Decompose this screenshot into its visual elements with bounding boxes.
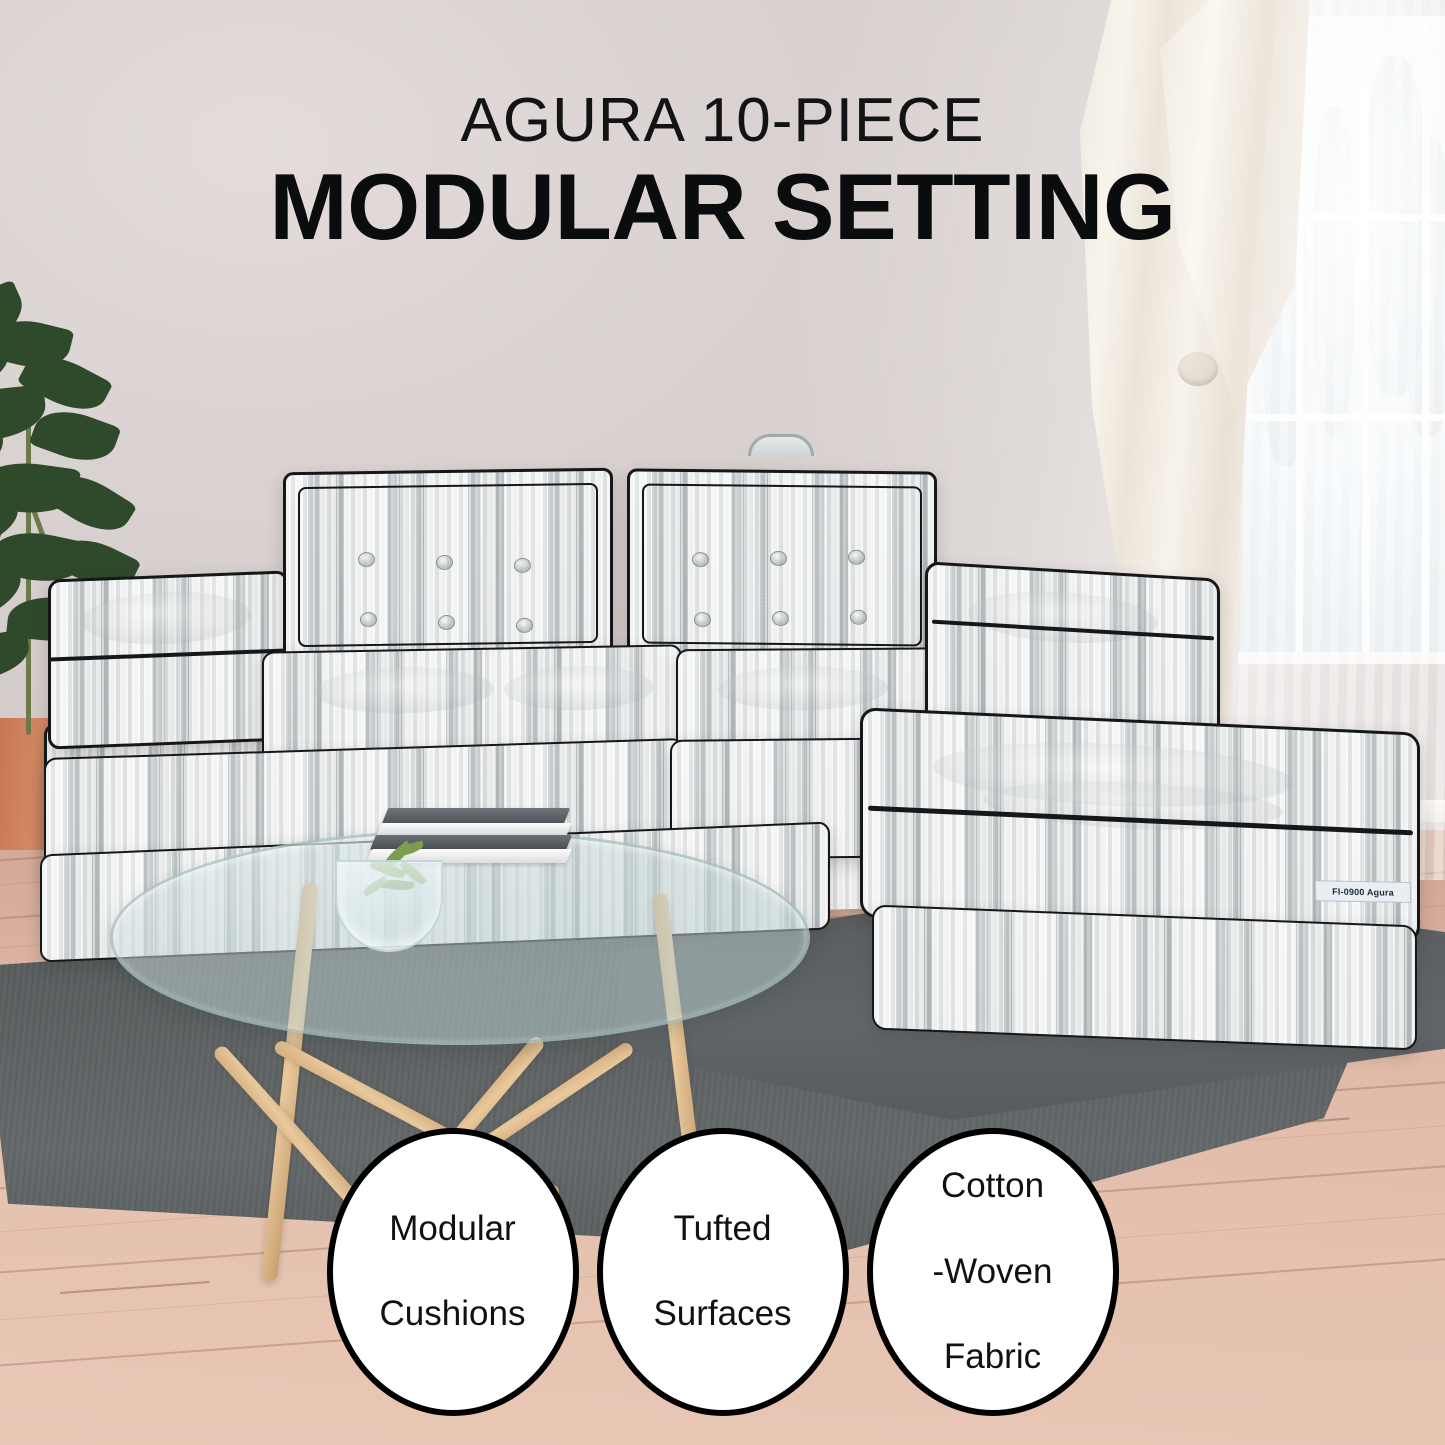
product-marketing-image: FI-0900 Agura AGURA 10	[0, 0, 1445, 1445]
badge-line-1: Modular	[364, 1208, 542, 1251]
feature-badge-cotton-woven-fabric[interactable]: Cotton -Woven Fabric	[867, 1128, 1119, 1416]
sofa-backrest-left	[283, 468, 613, 663]
badge-line-2: -Woven	[917, 1251, 1069, 1294]
fabric-code-tag: FI-0900 Agura	[1315, 880, 1412, 903]
feature-badge-row: Modular Cushions Tufted Surfaces Cotton …	[0, 1128, 1445, 1428]
ottoman-lower	[872, 905, 1417, 1051]
badge-line-1: Cotton	[917, 1165, 1069, 1208]
sofa-backrest-right	[627, 468, 937, 661]
badge-line-3: Fabric	[917, 1336, 1069, 1379]
product-eyebrow: AGURA 10-PIECE	[0, 90, 1445, 152]
feature-badge-tufted-surfaces[interactable]: Tufted Surfaces	[597, 1128, 849, 1416]
feature-badge-modular-cushions[interactable]: Modular Cushions	[327, 1128, 579, 1416]
badge-line-1: Tufted	[637, 1208, 807, 1251]
page-title: MODULAR SETTING	[0, 158, 1445, 257]
badge-line-2: Cushions	[364, 1293, 542, 1336]
curtain-tieback	[1178, 352, 1218, 386]
headline-block: AGURA 10-PIECE MODULAR SETTING	[0, 90, 1445, 257]
cushion-carry-handle	[748, 434, 814, 456]
badge-line-2: Surfaces	[637, 1293, 807, 1336]
